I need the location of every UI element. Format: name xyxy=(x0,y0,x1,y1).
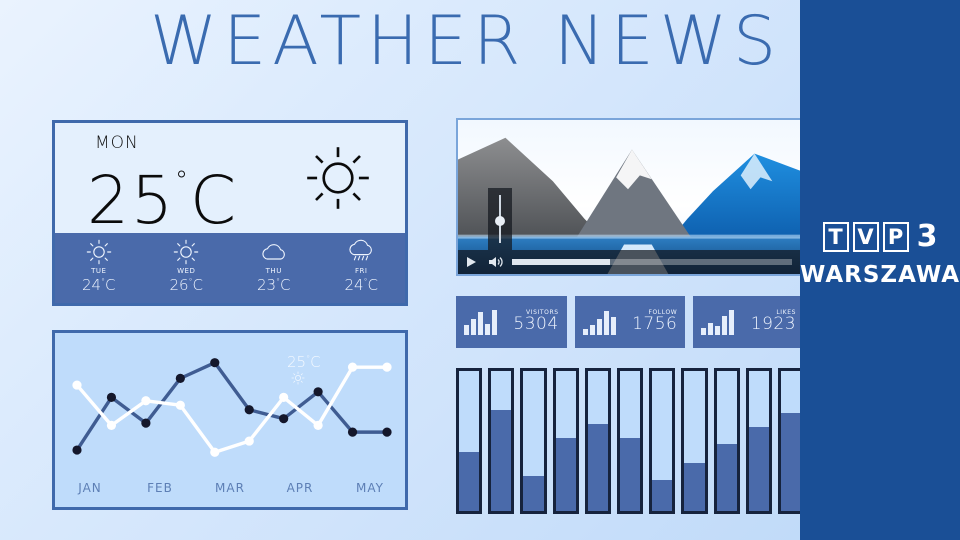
forecast-strip: TUE 24°C WED 26°C xyxy=(55,233,405,303)
x-tick-may: MAY xyxy=(335,481,405,495)
data-point[interactable] xyxy=(72,380,81,389)
forecast-temp: 26°C xyxy=(143,276,231,294)
tvp-brand-panel: T V P 3 WARSZAWA xyxy=(800,0,960,540)
stat-value: 5304 xyxy=(513,316,558,334)
forecast-day-label: TUE xyxy=(55,267,143,275)
forecast-day-label: WED xyxy=(143,267,231,275)
data-point[interactable] xyxy=(72,445,81,454)
gauge-bar[interactable] xyxy=(746,368,772,514)
gauge-fill xyxy=(781,413,801,511)
weather-news-dashboard: WEATHER NEWS MON 25°C xyxy=(0,0,960,540)
cloud-icon xyxy=(260,239,288,265)
forecast-day-tue[interactable]: TUE 24°C xyxy=(55,233,143,303)
forecast-day-wed[interactable]: WED 26°C xyxy=(143,233,231,303)
chart-temp-badge: 25°C xyxy=(287,353,321,385)
gauge-bar[interactable] xyxy=(553,368,579,514)
forecast-temp: 24°C xyxy=(318,276,406,294)
data-point[interactable] xyxy=(279,414,288,423)
gauge-bar[interactable] xyxy=(649,368,675,514)
video-controls[interactable] xyxy=(458,250,802,274)
data-point[interactable] xyxy=(382,428,391,437)
gauge-bar-chart xyxy=(456,368,804,514)
video-player[interactable] xyxy=(456,118,804,276)
sparkline-follow xyxy=(583,309,616,335)
gauge-fill xyxy=(588,424,608,511)
gauge-bar[interactable] xyxy=(585,368,611,514)
data-point[interactable] xyxy=(141,419,150,428)
forecast-day-label: FRI xyxy=(318,267,406,275)
data-point[interactable] xyxy=(107,421,116,430)
tvp-city-label: WARSZAWA xyxy=(800,262,960,288)
gauge-bar[interactable] xyxy=(617,368,643,514)
gauge-fill xyxy=(652,480,672,511)
gauge-bar[interactable] xyxy=(714,368,740,514)
video-progress-bar[interactable] xyxy=(512,259,792,265)
data-point[interactable] xyxy=(348,363,357,372)
gauge-bar[interactable] xyxy=(456,368,482,514)
volume-slider-popup[interactable] xyxy=(488,188,512,250)
gauge-fill xyxy=(749,427,769,511)
gauge-fill xyxy=(684,463,704,511)
forecast-temp: 23°C xyxy=(230,276,318,294)
sun-icon xyxy=(86,239,112,265)
data-point[interactable] xyxy=(245,436,254,445)
sparkline-likes xyxy=(701,309,734,335)
current-temp-value: 25 xyxy=(87,162,175,239)
sun-icon xyxy=(173,239,199,265)
degree-symbol: ° xyxy=(175,166,190,196)
chart-x-axis-labels: JAN FEB MAR APR MAY xyxy=(55,481,405,495)
data-point[interactable] xyxy=(141,396,150,405)
data-point[interactable] xyxy=(210,448,219,457)
forecast-day-thu[interactable]: THU 23°C xyxy=(230,233,318,303)
page-title: WEATHER NEWS xyxy=(150,2,850,82)
tvp-letter-v: V xyxy=(853,222,879,252)
data-point[interactable] xyxy=(314,387,323,396)
series-line-light-series xyxy=(77,367,387,452)
sun-icon xyxy=(305,145,371,211)
stat-cards: VISITORS 5304 FOLLOW 1756 LIKES 1923 xyxy=(456,296,804,348)
tvp-letter-p: P xyxy=(883,222,909,252)
gauge-bar[interactable] xyxy=(488,368,514,514)
data-point[interactable] xyxy=(348,428,357,437)
volume-icon[interactable] xyxy=(488,255,504,269)
video-progress-fill xyxy=(512,259,610,265)
gauge-fill xyxy=(491,410,511,511)
volume-slider-knob[interactable] xyxy=(495,216,505,226)
gauge-fill xyxy=(717,444,737,511)
sparkline-visitors xyxy=(464,309,497,335)
gauge-fill xyxy=(523,476,543,511)
data-point[interactable] xyxy=(382,363,391,372)
x-tick-apr: APR xyxy=(265,481,335,495)
stat-card-likes[interactable]: LIKES 1923 xyxy=(693,296,804,348)
current-temperature: 25°C xyxy=(87,141,238,241)
data-point[interactable] xyxy=(107,393,116,402)
x-tick-feb: FEB xyxy=(125,481,195,495)
temp-unit: C xyxy=(190,162,238,239)
play-icon[interactable] xyxy=(464,255,478,269)
data-point[interactable] xyxy=(176,374,185,383)
forecast-day-fri[interactable]: FRI 24°C xyxy=(318,233,406,303)
stat-value: 1756 xyxy=(632,316,677,334)
data-point[interactable] xyxy=(176,401,185,410)
series-line-dark-series xyxy=(77,363,387,450)
stat-card-visitors[interactable]: VISITORS 5304 xyxy=(456,296,567,348)
gauge-bar[interactable] xyxy=(681,368,707,514)
gauge-fill xyxy=(620,438,640,511)
x-tick-mar: MAR xyxy=(195,481,265,495)
data-point[interactable] xyxy=(245,405,254,414)
gauge-fill xyxy=(556,438,576,511)
stat-card-follow[interactable]: FOLLOW 1756 xyxy=(575,296,686,348)
stat-value: 1923 xyxy=(751,316,796,334)
temperature-trend-card: 25°C JAN FEB MAR APR MAY xyxy=(52,330,408,510)
data-point[interactable] xyxy=(279,393,288,402)
tvp-letter-t: T xyxy=(823,222,849,252)
forecast-day-label: THU xyxy=(230,267,318,275)
sun-icon xyxy=(291,371,305,385)
gauge-fill xyxy=(459,452,479,511)
x-tick-jan: JAN xyxy=(55,481,125,495)
gauge-bar[interactable] xyxy=(520,368,546,514)
data-point[interactable] xyxy=(314,421,323,430)
line-chart xyxy=(55,333,405,473)
data-point[interactable] xyxy=(210,358,219,367)
rain-cloud-icon xyxy=(347,239,375,265)
weather-card: MON 25°C xyxy=(52,120,408,306)
tvp-channel-number: 3 xyxy=(917,222,938,252)
tvp-logo: T V P 3 WARSZAWA xyxy=(800,222,960,288)
current-conditions: MON 25°C xyxy=(55,123,405,233)
forecast-temp: 24°C xyxy=(55,276,143,294)
